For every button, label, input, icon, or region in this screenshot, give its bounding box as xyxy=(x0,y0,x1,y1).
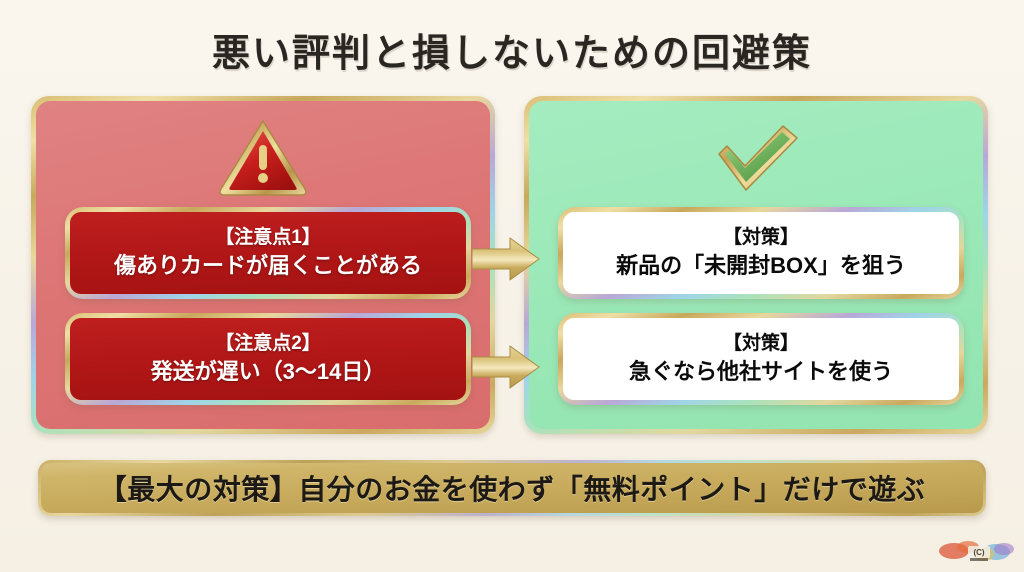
solution-item-2-label: 【対策】 xyxy=(723,332,799,356)
page-title: 悪い評判と損しないための回避策 xyxy=(0,22,1024,77)
solution-panel-body: 【対策】 新品の「未開封BOX」を狙う 【対策】 急ぐなら他社サイトを使う xyxy=(529,101,983,429)
site-logo-watermark: (C) xyxy=(938,538,1016,566)
risk-panel-body: 【注意点1】 傷ありカードが届くことがある 【注意点2】 発送が遅い（3〜14日… xyxy=(36,101,490,429)
banner-body: 【最大の対策】自分のお金を使わず「無料ポイント」だけで遊ぶ xyxy=(41,463,983,513)
risk-item-2-text: 発送が遅い（3〜14日） xyxy=(151,358,386,386)
key-takeaway-banner: 【最大の対策】自分のお金を使わず「無料ポイント」だけで遊ぶ xyxy=(38,460,986,516)
solution-item-2-text: 急ぐなら他社サイトを使う xyxy=(629,358,893,386)
check-mark-icon xyxy=(529,113,983,201)
risk-item-2: 【注意点2】 発送が遅い（3〜14日） xyxy=(65,313,471,405)
solution-item-1: 【対策】 新品の「未開封BOX」を狙う xyxy=(558,207,964,299)
arrow-right-icon xyxy=(472,236,540,282)
banner-frame: 【最大の対策】自分のお金を使わず「無料ポイント」だけで遊ぶ xyxy=(38,460,986,516)
risk-item-1: 【注意点1】 傷ありカードが届くことがある xyxy=(65,207,471,299)
solution-item-2-body: 【対策】 急ぐなら他社サイトを使う xyxy=(563,318,959,400)
risk-item-1-text: 傷ありカードが届くことがある xyxy=(114,252,422,280)
infographic-stage: 悪い評判と損しないための回避策 xyxy=(0,0,1024,572)
solution-item-1-body: 【対策】 新品の「未開封BOX」を狙う xyxy=(563,212,959,294)
risk-item-1-body: 【注意点1】 傷ありカードが届くことがある xyxy=(70,212,466,294)
warning-triangle-icon xyxy=(36,113,490,201)
solution-item-2: 【対策】 急ぐなら他社サイトを使う xyxy=(558,313,964,405)
risk-item-1-label: 【注意点1】 xyxy=(215,226,321,250)
solution-panel: 【対策】 新品の「未開封BOX」を狙う 【対策】 急ぐなら他社サイトを使う xyxy=(524,96,988,434)
risk-item-2-body: 【注意点2】 発送が遅い（3〜14日） xyxy=(70,318,466,400)
risk-item-2-label: 【注意点2】 xyxy=(215,332,321,356)
solution-item-1-label: 【対策】 xyxy=(723,226,799,250)
arrow-right-icon xyxy=(472,344,540,390)
svg-text:(C): (C) xyxy=(973,548,984,557)
solution-item-1-text: 新品の「未開封BOX」を狙う xyxy=(616,252,906,280)
risk-panel: 【注意点1】 傷ありカードが届くことがある 【注意点2】 発送が遅い（3〜14日… xyxy=(31,96,495,434)
banner-text: 【最大の対策】自分のお金を使わず「無料ポイント」だけで遊ぶ xyxy=(99,468,926,508)
